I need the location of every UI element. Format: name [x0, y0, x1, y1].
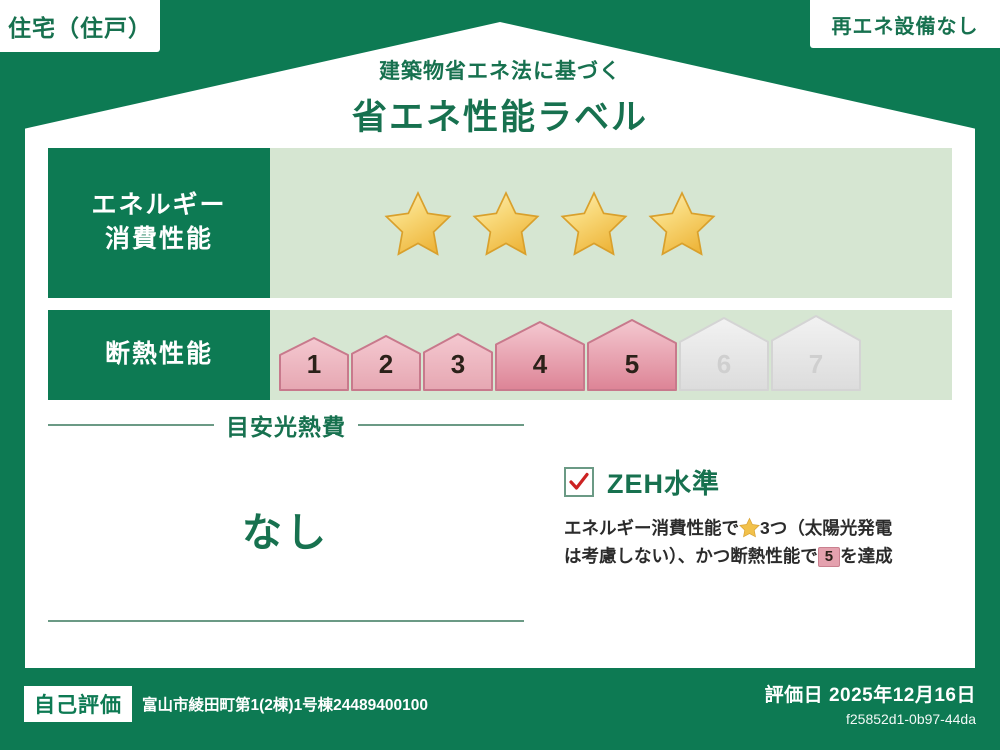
building-type-tag: 住宅（住戸） — [0, 0, 160, 52]
star-icon — [472, 189, 540, 257]
zeh-title: ZEH水準 — [607, 462, 720, 501]
insulation-level-number: 6 — [678, 349, 770, 380]
building-type-label: 住宅（住戸） — [8, 9, 152, 43]
insulation-performance-label: 断熱性能 — [48, 310, 270, 400]
insulation-level-6: 6 — [678, 316, 770, 392]
zeh-heading: ZEH水準 — [564, 462, 952, 501]
insulation-level-4: 4 — [494, 320, 586, 392]
zeh-desc-part4: を達成 — [840, 546, 893, 566]
renewable-energy-tag: 再エネ設備なし — [810, 0, 1000, 48]
insulation-level-number: 7 — [770, 349, 862, 380]
evaluation-date: 評価日 2025年12月16日 — [765, 680, 976, 707]
energy-label-line1: エネルギー — [91, 189, 226, 223]
insulation-level-number: 2 — [350, 349, 422, 380]
performance-rows: エネルギー 消費性能 断熱性能 1234567 — [48, 148, 952, 412]
page-title: 建築物省エネ法に基づく 省エネ性能ラベル — [25, 55, 975, 140]
lower-section: 目安光熱費 なし ZEH水準 エネルギー消費性能で3つ（太陽光発電は考慮しない）… — [48, 408, 952, 622]
insulation-level-3: 3 — [422, 332, 494, 392]
zeh-desc-part3: は考慮しない）、かつ断熱性能で — [564, 546, 818, 566]
zeh-checkbox[interactable] — [564, 467, 594, 497]
heading-rule-right — [358, 424, 524, 426]
zeh-desc-part1: エネルギー消費性能で — [564, 518, 739, 538]
insulation-level-number: 1 — [278, 349, 350, 380]
star-icon-inline — [739, 517, 760, 538]
insulation-level-number: 4 — [494, 349, 586, 380]
star-icon — [648, 189, 716, 257]
title-main: 省エネ性能ラベル — [25, 89, 975, 140]
evaluation-id: f25852d1-0b97-44da — [765, 711, 976, 727]
zeh-panel: ZEH水準 エネルギー消費性能で3つ（太陽光発電は考慮しない）、かつ断熱性能で5… — [524, 408, 952, 622]
insulation-level-7: 7 — [770, 314, 862, 392]
zeh-description: エネルギー消費性能で3つ（太陽光発電は考慮しない）、かつ断熱性能で5を達成 — [564, 514, 952, 571]
insulation-scale: 1234567 — [270, 310, 862, 400]
star-icon — [560, 189, 628, 257]
check-icon — [568, 471, 590, 493]
insulation-level-number: 3 — [422, 349, 494, 380]
property-address: 富山市綾田町第1(2棟)1号棟24489400100 — [142, 693, 428, 715]
utility-cost-heading: 目安光熱費 — [48, 408, 524, 442]
energy-performance-label: エネルギー 消費性能 — [48, 148, 270, 298]
insulation-level-2: 2 — [350, 334, 422, 392]
insulation-performance-row: 断熱性能 1234567 — [48, 310, 952, 400]
utility-cost-panel: 目安光熱費 なし — [48, 408, 524, 622]
star-icon — [384, 189, 452, 257]
utility-cost-heading-text: 目安光熱費 — [226, 408, 346, 442]
footer-left: 自己評価 富山市綾田町第1(2棟)1号棟24489400100 — [24, 686, 428, 722]
insulation-performance-body: 1234567 — [270, 310, 952, 400]
insulation-level-number: 5 — [586, 349, 678, 380]
heading-rule-left — [48, 424, 214, 426]
footer-right: 評価日 2025年12月16日 f25852d1-0b97-44da — [765, 680, 976, 727]
insulation-level-5: 5 — [586, 318, 678, 392]
zeh-desc-badge: 5 — [818, 547, 840, 567]
insulation-level-1: 1 — [278, 336, 350, 392]
zeh-desc-part2: 3つ（太陽光発電 — [760, 518, 892, 538]
energy-performance-body — [270, 148, 952, 298]
energy-label-line2: 消費性能 — [105, 223, 213, 257]
utility-cost-value: なし — [48, 500, 524, 558]
footer: 自己評価 富山市綾田町第1(2棟)1号棟24489400100 評価日 2025… — [0, 668, 1000, 750]
utility-cost-bottom-rule — [48, 620, 524, 622]
star-rating — [270, 189, 716, 257]
self-evaluation-badge: 自己評価 — [24, 686, 132, 722]
title-subtitle: 建築物省エネ法に基づく — [25, 55, 975, 85]
insulation-label-text: 断熱性能 — [105, 338, 213, 372]
renewable-energy-label: 再エネ設備なし — [832, 10, 979, 39]
energy-performance-row: エネルギー 消費性能 — [48, 148, 952, 298]
